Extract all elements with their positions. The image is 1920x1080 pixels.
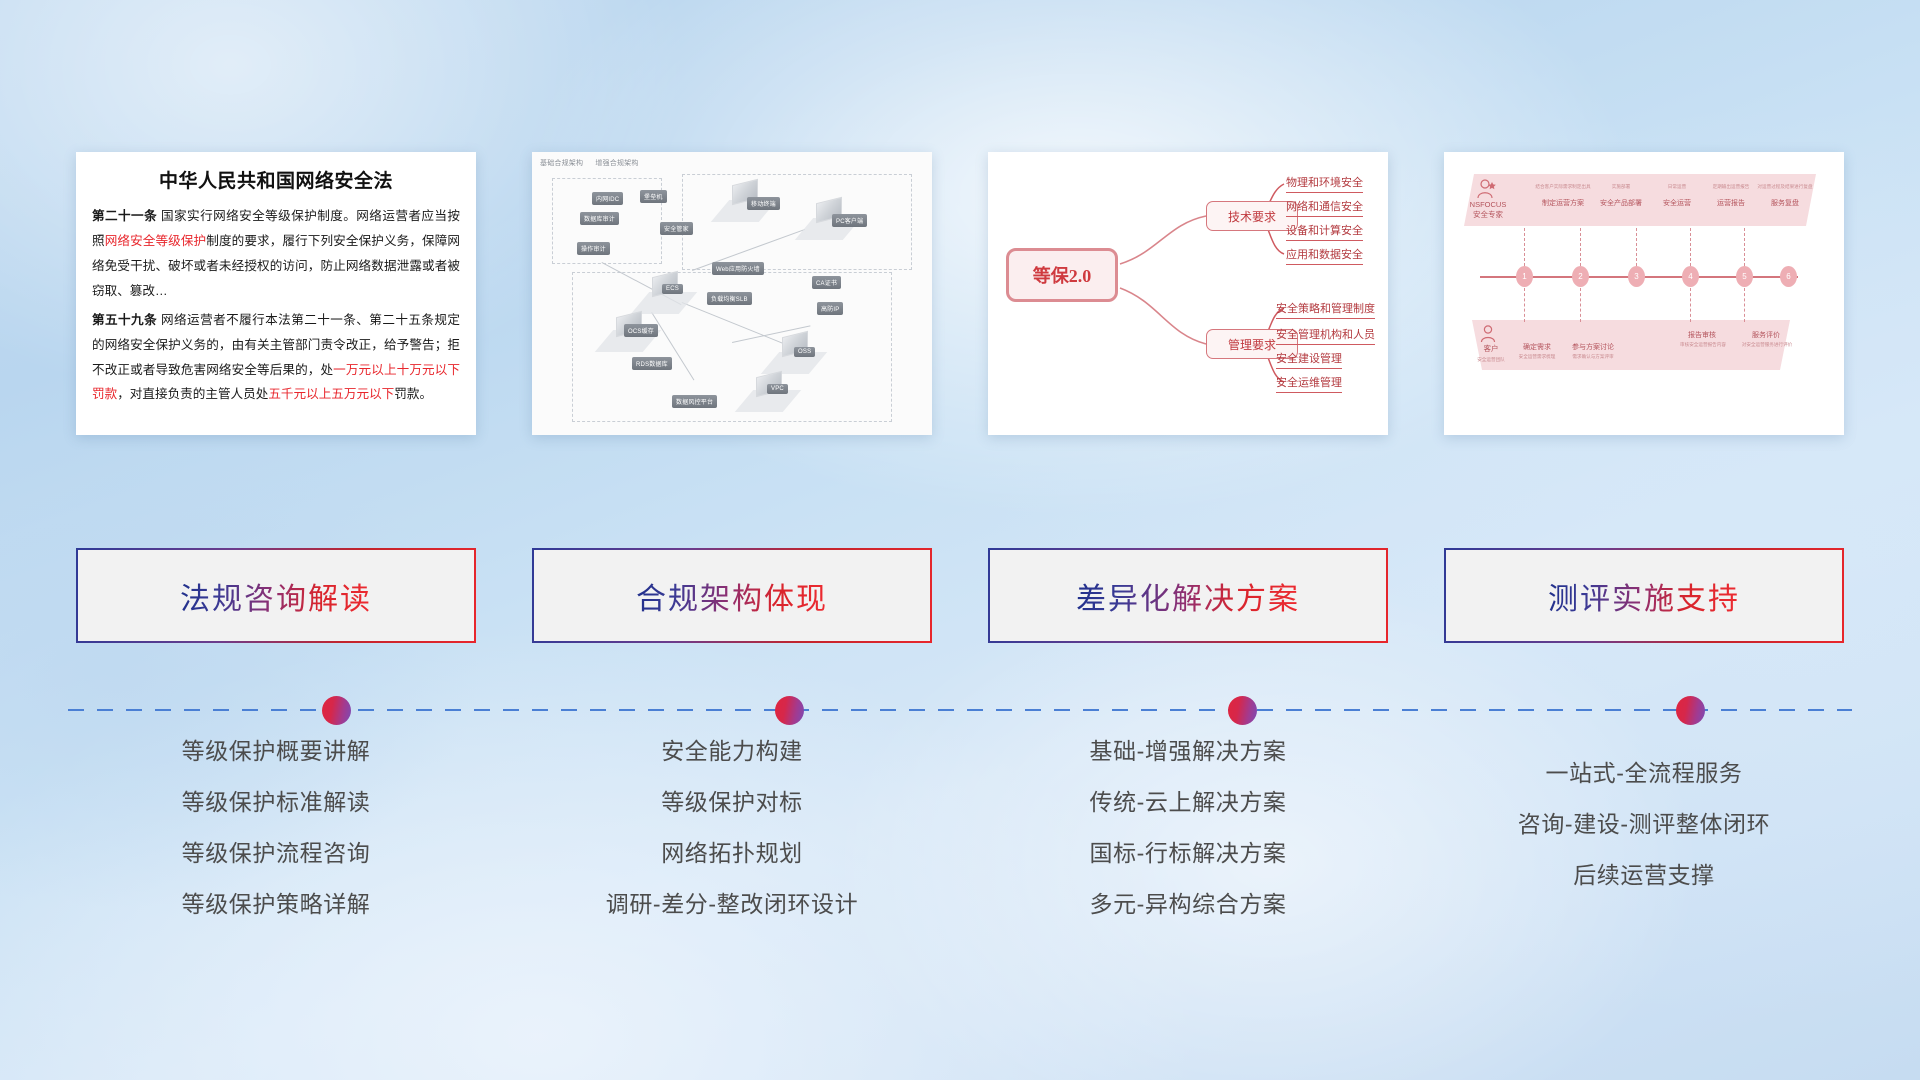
arch-node: 数据风控平台	[672, 395, 717, 408]
law-body: 第二十一条 国家实行网络安全等级保护制度。网络运营者应当按照网络安全等级保护制度…	[92, 204, 460, 407]
bullet-item: 后续运营支撑	[1444, 864, 1844, 887]
process-customer: 客户 安全运营团队	[1468, 344, 1514, 364]
law-article-59-highlight-2: 五千元以上五万元以下	[268, 387, 394, 401]
law-article-59-part2: ，对直接负责的主管人员处	[117, 387, 268, 401]
card-service-process: NSFOCUS 安全专家 客户 安全运营团队 结合客户实际需求制定出具 制定运营…	[1444, 152, 1844, 435]
bullet-item: 等级保护流程咨询	[76, 842, 476, 865]
bullet-column-1: 等级保护概要讲解 等级保护标准解读 等级保护流程咨询 等级保护策略详解	[76, 740, 476, 970]
mindmap-leaf: 网络和通信安全	[1286, 198, 1363, 217]
process-step-number: 6	[1780, 266, 1797, 287]
process-bottom-sub: 安全运营需求梳理	[1514, 354, 1560, 360]
bullet-item: 等级保护策略详解	[76, 893, 476, 916]
arch-node: 安全管家	[660, 222, 693, 235]
process-step-number: 3	[1628, 266, 1645, 287]
process-bottom-title: 服务评价	[1740, 330, 1792, 340]
mindmap-leaf: 物理和环境安全	[1286, 174, 1363, 193]
mindmap-leaf: 应用和数据安全	[1286, 246, 1363, 265]
process-brand: NSFOCUS 安全专家	[1460, 200, 1516, 220]
mindmap-root-node: 等保2.0	[1006, 248, 1118, 302]
timeline-connector	[68, 690, 1852, 730]
card-cybersecurity-law: 中华人民共和国网络安全法 第二十一条 国家实行网络安全等级保护制度。网络运营者应…	[76, 152, 476, 435]
mindmap-leaf: 安全运维管理	[1276, 374, 1342, 393]
mindmap-leaf: 安全策略和管理制度	[1276, 300, 1375, 319]
arch-node: 高防IP	[817, 302, 843, 315]
process-top-title: 服务复盘	[1752, 198, 1818, 208]
arch-canvas: 安全管家堡垒机Web应用防火墙负载均衡SLBCA证书高防IPECSOCS缓存RD…	[532, 152, 932, 435]
arch-node: 操作审计	[577, 242, 610, 255]
arch-node: ECS	[662, 284, 683, 294]
law-article-21-highlight: 网络安全等级保护	[105, 234, 207, 248]
bullet-item: 咨询-建设-测评整体闭环	[1444, 813, 1844, 836]
timeline-dot	[1228, 696, 1257, 725]
process-dash-connector	[1636, 228, 1637, 266]
law-article-59-part3: 罚款。	[394, 387, 432, 401]
process-brand-sub: 安全专家	[1473, 210, 1503, 219]
arch-node: VPC	[767, 384, 788, 394]
process-dash-connector	[1690, 288, 1691, 322]
bullet-item: 基础-增强解决方案	[988, 740, 1388, 763]
arch-node: CA证书	[812, 276, 841, 289]
bullet-item: 传统-云上解决方案	[988, 791, 1388, 814]
arch-node: 移动终端	[747, 197, 780, 210]
heading-label: 法规咨询解读	[180, 574, 372, 618]
cards-row: 中华人民共和国网络安全法 第二十一条 国家实行网络安全等级保护制度。网络运营者应…	[76, 152, 1844, 442]
expert-person-icon	[1474, 178, 1498, 200]
arch-node: PC客户端	[832, 214, 867, 227]
bullet-column-2: 安全能力构建 等级保护对标 网络拓扑规划 调研-差分-整改闭环设计	[532, 740, 932, 970]
process-step-number: 5	[1736, 266, 1753, 287]
process-dash-connector	[1580, 288, 1581, 322]
process-dash-connector	[1524, 288, 1525, 322]
process-bottom-sub: 对安全运营服务进行评价	[1732, 342, 1802, 348]
timeline-dot	[322, 696, 351, 725]
heading-box-regulation-consulting[interactable]: 法规咨询解读	[76, 548, 476, 643]
arch-node: 数据库审计	[580, 212, 619, 225]
process-bottom-sub: 需求确认与方案评审	[1562, 354, 1624, 360]
process-top-sub: 对运营过程及结果进行复盘	[1752, 184, 1818, 190]
arch-node: OCS缓存	[624, 324, 658, 337]
process-step-number: 2	[1572, 266, 1589, 287]
bullet-item: 多元-异构综合方案	[988, 893, 1388, 916]
law-article-21: 第二十一条 国家实行网络安全等级保护制度。网络运营者应当按照网络安全等级保护制度…	[92, 204, 460, 304]
headings-row: 法规咨询解读 合规架构体现 差异化解决方案 测评实施支持	[76, 548, 1844, 643]
heading-box-compliance-architecture[interactable]: 合规架构体现	[532, 548, 932, 643]
law-article-21-label: 第二十一条	[92, 209, 157, 223]
timeline-dot	[775, 696, 804, 725]
heading-box-differentiated-solution[interactable]: 差异化解决方案	[988, 548, 1388, 643]
process-dash-connector	[1744, 228, 1745, 266]
bullet-item: 网络拓扑规划	[532, 842, 932, 865]
process-brand-name: NSFOCUS	[1470, 200, 1507, 209]
mindmap-branch-technical: 技术要求	[1206, 201, 1298, 231]
process-bottom-title: 确定需求	[1514, 342, 1560, 352]
arch-node: Web应用防火墙	[712, 262, 764, 275]
bullet-columns: 等级保护概要讲解 等级保护标准解读 等级保护流程咨询 等级保护策略详解 安全能力…	[76, 740, 1844, 970]
process-bottom-sub: 审核安全运营报告内容	[1668, 342, 1738, 348]
mindmap-leaf: 安全建设管理	[1276, 350, 1342, 369]
bullet-item: 调研-差分-整改闭环设计	[532, 893, 932, 916]
process-dash-connector	[1744, 288, 1745, 322]
law-article-59: 第五十九条 网络运营者不履行本法第二十一条、第二十五条规定的网络安全保护义务的，…	[92, 308, 460, 408]
bullet-item: 国标-行标解决方案	[988, 842, 1388, 865]
timeline-dot	[1676, 696, 1705, 725]
process-step-number: 1	[1516, 266, 1533, 287]
law-article-59-label: 第五十九条	[92, 313, 157, 327]
bullet-item: 一站式-全流程服务	[1444, 762, 1844, 785]
arch-node: 内网IDC	[592, 192, 623, 205]
bullet-column-4: 一站式-全流程服务 咨询-建设-测评整体闭环 后续运营支撑	[1444, 740, 1844, 970]
arch-node: 堡垒机	[640, 190, 667, 203]
card-compliance-architecture: 基础合规架构 增强合规架构 安全管家堡	[532, 152, 932, 435]
process-customer-sub: 安全运营团队	[1477, 357, 1505, 362]
heading-label: 合规架构体现	[636, 574, 828, 618]
bullet-column-3: 基础-增强解决方案 传统-云上解决方案 国标-行标解决方案 多元-异构综合方案	[988, 740, 1388, 970]
law-title: 中华人民共和国网络安全法	[92, 166, 460, 193]
arch-node: RDS数据库	[632, 357, 672, 370]
bullet-item: 安全能力构建	[532, 740, 932, 763]
process-bottom-title: 参与方案讨论	[1562, 342, 1624, 352]
bullet-item: 等级保护标准解读	[76, 791, 476, 814]
process-customer-name: 客户	[1484, 344, 1499, 353]
process-dash-connector	[1524, 228, 1525, 266]
arch-zone-b	[682, 174, 912, 270]
card-dengbao-mindmap: 等保2.0 技术要求 管理要求 物理和环境安全 网络和通信安全 设备和计算安全 …	[988, 152, 1388, 435]
mindmap-leaf: 安全管理机构和人员	[1276, 326, 1375, 345]
arch-node: 负载均衡SLB	[707, 292, 752, 305]
process-step-number: 4	[1682, 266, 1699, 287]
mindmap-leaf: 设备和计算安全	[1286, 222, 1363, 241]
heading-label: 差异化解决方案	[1076, 574, 1300, 618]
bullet-item: 等级保护概要讲解	[76, 740, 476, 763]
process-bottom-title: 报告审核	[1676, 330, 1728, 340]
customer-person-icon	[1478, 324, 1500, 344]
process-dash-connector	[1580, 228, 1581, 266]
process-dash-connector	[1690, 228, 1691, 266]
bullet-item: 等级保护对标	[532, 791, 932, 814]
heading-label: 测评实施支持	[1548, 574, 1740, 618]
arch-node: OSS	[794, 347, 815, 357]
heading-box-evaluation-support[interactable]: 测评实施支持	[1444, 548, 1844, 643]
